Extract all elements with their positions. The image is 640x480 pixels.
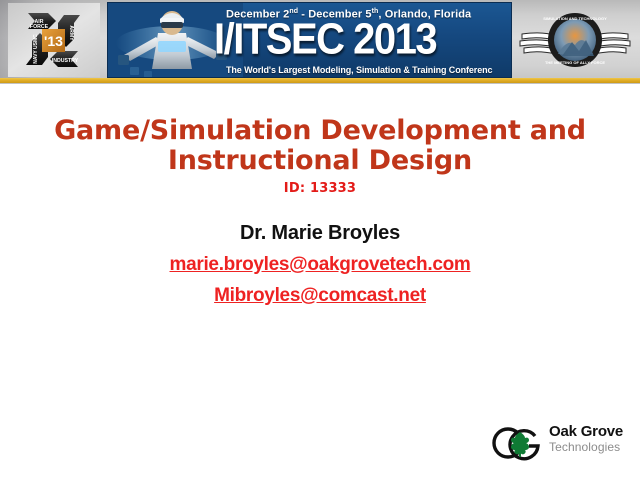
paper-id-label: ID: 13333	[40, 181, 600, 196]
author-email-primary[interactable]: marie.broyles@oakgrovetech.com	[40, 254, 600, 276]
i-itsec-cycle-logo: '13 AIR FORCE ARMY INDUSTRY NAVY USMC	[8, 3, 100, 77]
cycle-arrows-icon: '13 AIR FORCE ARMY INDUSTRY NAVY USMC	[8, 3, 100, 77]
header-gold-divider	[0, 78, 640, 83]
dateline-sup-nd: nd	[289, 8, 298, 15]
oak-grove-company-name: Oak Grove	[549, 424, 635, 440]
svg-text:INDUSTRY: INDUSTRY	[52, 58, 79, 64]
oak-grove-mark-icon	[489, 423, 547, 463]
cycle-year-label: '13	[44, 33, 63, 49]
oak-grove-company-subtitle: Technologies	[549, 440, 635, 454]
title-block: Game/Simulation Development and Instruct…	[40, 116, 600, 196]
interlocking-rings-leaf-icon	[489, 423, 547, 463]
svg-text:FORCE: FORCE	[30, 24, 49, 30]
emblem-ring-text-bottom: THE MEETING OF ALLY FORCE	[545, 60, 605, 65]
author-email-secondary[interactable]: Mibroyles@comcast.net	[40, 285, 600, 307]
oak-grove-technologies-logo: Oak Grove Technologies	[489, 421, 632, 465]
emblem-ring-text-top: SIMULATION AND TECHNOLOGY	[543, 16, 607, 21]
i-itsec-banner: December 2nd - December 5th, Orlando, Fl…	[107, 2, 512, 78]
presentation-slide: '13 AIR FORCE ARMY INDUSTRY NAVY USMC	[0, 0, 640, 480]
author-block: Dr. Marie Broyles marie.broyles@oakgrove…	[40, 222, 600, 316]
banner-event-title: I/ITSEC 2013	[214, 18, 436, 61]
author-name: Dr. Marie Broyles	[40, 222, 600, 245]
i-itsec-wings-emblem: SIMULATION AND TECHNOLOGY THE MEETING OF…	[516, 4, 634, 76]
slide-header-banner: '13 AIR FORCE ARMY INDUSTRY NAVY USMC	[0, 0, 640, 84]
page-title: Game/Simulation Development and Instruct…	[40, 116, 600, 176]
svg-text:NAVY USMC: NAVY USMC	[33, 34, 39, 64]
winged-circle-icon: SIMULATION AND TECHNOLOGY THE MEETING OF…	[516, 4, 634, 76]
title-line-2: Instructional Design	[168, 145, 472, 176]
title-line-1: Game/Simulation Development and	[54, 115, 586, 146]
banner-tagline: The World's Largest Modeling, Simulation…	[226, 65, 509, 75]
svg-text:ARMY: ARMY	[68, 25, 74, 41]
oak-grove-wordmark: Oak Grove Technologies	[549, 424, 635, 454]
